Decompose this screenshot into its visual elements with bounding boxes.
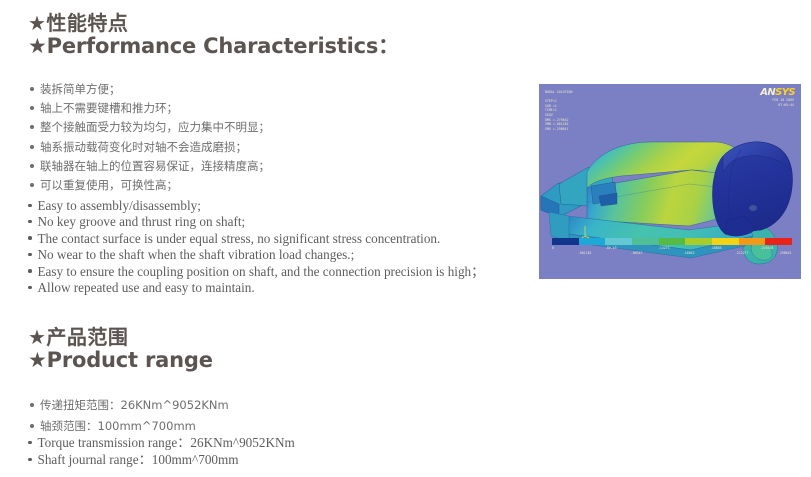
product-range-bullets-en: Torque transmission range：26KNm^9052KNm … — [28, 434, 295, 468]
legend-band — [739, 238, 766, 245]
bullet-dot-icon — [30, 424, 34, 428]
list-item: Easy to assembly/disassembly; — [28, 198, 484, 214]
list-item: 轴系振动载荷变化时对轴不会造成磨损； — [30, 138, 270, 157]
list-item-label: 轴上不需要键槽和推力环； — [40, 101, 178, 115]
legend-tick: 0 — [552, 246, 554, 250]
list-item-label: 装拆简单方便； — [40, 82, 121, 96]
legend-tick: .212277 — [735, 251, 748, 255]
legend-band — [552, 238, 579, 245]
legend-band — [765, 238, 792, 245]
list-item-label: Easy to ensure the coupling position on … — [38, 264, 485, 279]
list-item: 联轴器在轴上的位置容易保证，连接精度高； — [30, 157, 270, 176]
bullet-dot-icon — [28, 220, 32, 224]
legend-tick: .13273 — [658, 246, 670, 250]
fea-timestamp: FEB 18 2009 07:05:44 — [772, 98, 794, 107]
list-item: No key groove and thrust ring on shaft; — [28, 214, 484, 230]
performance-bullets-en: Easy to assembly/disassembly; No key gro… — [28, 198, 484, 296]
list-item-label: 联轴器在轴上的位置容易保证，连接精度高； — [40, 159, 270, 173]
list-item-label: Allow repeated use and easy to maintain. — [38, 280, 255, 295]
page-root: ★性能特点 ★Performance Characteristics： 装拆简单… — [0, 0, 811, 477]
list-item-label: 整个接触面受力较为均匀，应力集中不明显； — [40, 120, 270, 134]
ansys-fea-stress-plot: X ANSYS NODAL SOLUTION STEP=1 SUB =1 TIM… — [539, 84, 801, 279]
legend-tick: .001182 — [578, 251, 591, 255]
performance-heading-group: ★性能特点 ★Performance Characteristics： — [28, 12, 399, 59]
legend-tick: .298641 — [778, 251, 791, 255]
bullet-dot-icon — [30, 125, 34, 129]
list-item: No wear to the shaft when the shaft vibr… — [28, 247, 484, 263]
list-item-label: 传递扭矩范围：26KNm^9052KNm — [40, 398, 229, 412]
list-item-label: No wear to the shaft when the shaft vibr… — [38, 247, 355, 262]
list-item: Easy to ensure the coupling position on … — [28, 264, 484, 280]
ansys-logo-part-a: AN — [760, 87, 775, 98]
bullet-dot-icon — [30, 106, 34, 110]
bullet-dot-icon — [28, 458, 32, 462]
legend-band — [712, 238, 739, 245]
list-item-label: Easy to assembly/disassembly; — [38, 198, 201, 213]
legend-tick: .8e-x3 — [605, 246, 617, 250]
fea-solution-header: NODAL SOLUTION STEP=1 SUB =1 TIME=1 SEQV… — [545, 90, 572, 131]
legend-tick: .00347 — [631, 251, 643, 255]
legend-color-bar — [552, 238, 792, 245]
list-item-label: No key groove and thrust ring on shaft; — [38, 214, 246, 229]
bullet-dot-icon — [28, 286, 32, 290]
section-title-en: ★Product range — [28, 348, 213, 373]
bullet-dot-icon — [30, 403, 34, 407]
ansys-logo-part-b: SYS — [775, 87, 795, 98]
legend-band — [579, 238, 606, 245]
list-item: Allow repeated use and easy to maintain. — [28, 280, 484, 296]
legend-band — [605, 238, 632, 245]
list-item: 传递扭矩范围：26KNm^9052KNm — [30, 395, 229, 416]
bullet-dot-icon — [28, 204, 32, 208]
product-range-heading-group: ★产品范围 ★Product range — [28, 326, 213, 373]
bullet-dot-icon — [30, 87, 34, 91]
legend-tick: .18805 — [710, 246, 722, 250]
section-title-cn: ★产品范围 — [28, 326, 213, 348]
bullet-dot-icon — [28, 441, 32, 445]
ansys-logo: ANSYS — [760, 87, 795, 98]
fea-contour-legend: 0 .8e-x3 .13273 .18805 .2x5438 .001182 .… — [552, 238, 792, 258]
bullet-dot-icon — [28, 236, 32, 240]
page-title-cn: ★性能特点 — [28, 12, 399, 34]
bullet-dot-icon — [28, 269, 32, 273]
legend-tick-labels: 0 .8e-x3 .13273 .18805 .2x5438 .001182 .… — [552, 246, 792, 258]
legend-tick: .16042 — [683, 251, 695, 255]
list-item: 整个接触面受力较为均匀，应力集中不明显； — [30, 118, 270, 137]
list-item-label: 轴颈范围：100mm^700mm — [40, 419, 196, 433]
list-item: 轴上不需要键槽和推力环； — [30, 99, 270, 118]
legend-band — [632, 238, 659, 245]
list-item: Torque transmission range：26KNm^9052KNm — [28, 434, 295, 451]
list-item-label: Shaft journal range：100mm^700mm — [38, 452, 239, 467]
list-item-label: 轴系振动载荷变化时对轴不会造成磨损； — [40, 140, 247, 154]
page-title-en: ★Performance Characteristics： — [28, 34, 399, 59]
list-item: 可以重复使用，可换性高； — [30, 176, 270, 195]
list-item: 装拆简单方便； — [30, 80, 270, 99]
list-item-label: 可以重复使用，可换性高； — [40, 178, 178, 192]
legend-band — [659, 238, 686, 245]
bullet-dot-icon — [30, 145, 34, 149]
list-item-label: The contact surface is under equal stres… — [38, 231, 441, 246]
performance-bullets-cn: 装拆简单方便； 轴上不需要键槽和推力环； 整个接触面受力较为均匀，应力集中不明显… — [30, 80, 270, 195]
bullet-dot-icon — [30, 183, 34, 187]
list-item: Shaft journal range：100mm^700mm — [28, 451, 295, 468]
list-item-label: Torque transmission range：26KNm^9052KNm — [38, 435, 295, 450]
bullet-dot-icon — [30, 164, 34, 168]
list-item: The contact surface is under equal stres… — [28, 231, 484, 247]
product-range-bullets-cn: 传递扭矩范围：26KNm^9052KNm 轴颈范围：100mm^700mm — [30, 395, 229, 437]
legend-band — [685, 238, 712, 245]
legend-tick: .2x5438 — [760, 246, 773, 250]
bullet-dot-icon — [28, 253, 32, 257]
